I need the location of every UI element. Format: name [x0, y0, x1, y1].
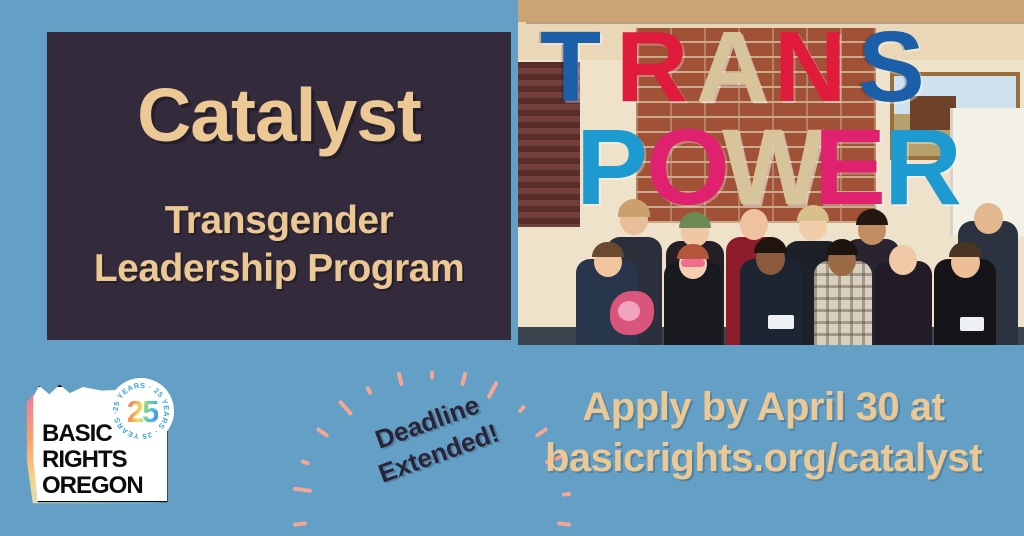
- balloon-letter-a: A: [696, 22, 768, 112]
- balloon-letter-s: S: [858, 22, 925, 112]
- balloon-letter-t: T: [540, 22, 601, 112]
- badge-number: 25: [126, 396, 158, 428]
- balloon-letter-r: R: [616, 22, 688, 112]
- cta-url[interactable]: basicrights.org/catalyst: [516, 433, 1011, 484]
- call-to-action: Apply by April 30 at basicrights.org/cat…: [516, 382, 1011, 484]
- burst-ray: [293, 487, 312, 493]
- burst-ray: [300, 459, 310, 466]
- balloon-letter-n: N: [774, 22, 846, 112]
- logo-line-rights: RIGHTS: [42, 448, 127, 472]
- burst-ray: [316, 427, 330, 438]
- burst-ray: [557, 521, 571, 527]
- subtitle: Transgender Leadership Program: [94, 197, 464, 292]
- logo-line-oregon: OREGON: [42, 474, 143, 498]
- burst-ray: [293, 521, 307, 527]
- basic-rights-oregon-logo: BASIC RIGHTS OREGON 25 YEARS · 25 YEARS …: [18, 382, 173, 512]
- cta-line-1: Apply by April 30 at: [516, 382, 1011, 433]
- title-card: Catalyst Transgender Leadership Program: [47, 32, 511, 340]
- photo-group-of-people: [518, 195, 1024, 345]
- subtitle-line-2: Leadership Program: [94, 245, 464, 293]
- subtitle-line-1: Transgender: [94, 197, 464, 245]
- event-photo: T R A N S P O W E R: [518, 0, 1024, 345]
- page-title: Catalyst: [137, 78, 421, 153]
- poster-canvas: Catalyst Transgender Leadership Program …: [0, 0, 1024, 536]
- logo-line-basic: BASIC: [42, 422, 112, 446]
- burst-ray: [365, 386, 373, 396]
- burst-ray: [562, 492, 571, 497]
